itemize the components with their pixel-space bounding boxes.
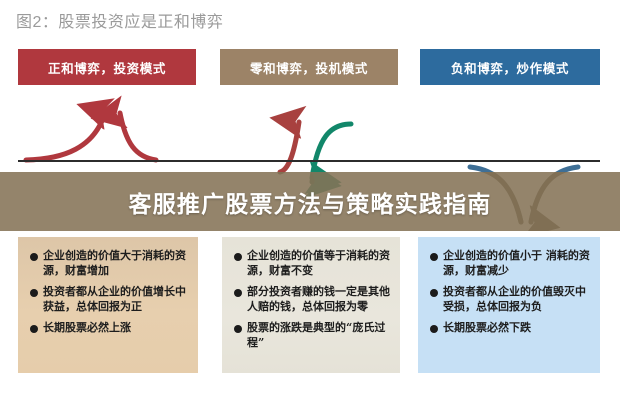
list-item: 企业创造的价值小于 消耗的资源，财富减少 <box>430 249 590 278</box>
middle-arrow-down <box>312 124 351 178</box>
arrow-group-left <box>26 113 156 160</box>
panel-negative-sum: 企业创造的价值小于 消耗的资源，财富减少 投资者都从企业的价值毁灭中受损，总体回… <box>418 237 600 373</box>
overlay-banner: 客服推广股票方法与策略实践指南 <box>0 172 620 231</box>
mode-box-label: 正和博弈，投资模式 <box>48 58 166 77</box>
mode-box-positive-sum: 正和博弈，投资模式 <box>18 49 196 85</box>
bullet-dot-icon <box>30 325 38 333</box>
list-item: 投资者都从企业的价值增长中获益，总体回报为正 <box>30 285 188 314</box>
bullet-text: 企业创造的价值等于消耗的资源，财富不变 <box>247 249 390 278</box>
bullet-text: 长期股票必然下跌 <box>443 321 531 336</box>
list-item: 投资者都从企业的价值毁灭中受损，总体回报为负 <box>430 285 590 314</box>
baseline-rule <box>18 160 600 162</box>
bullet-dot-icon <box>430 289 438 297</box>
list-item: 长期股票必然下跌 <box>430 321 590 336</box>
bullet-dot-icon <box>234 325 242 333</box>
left-arrow-up-outer <box>26 113 105 160</box>
list-item: 部分投资者赚的钱一定是其他人赔的钱，总体回报为零 <box>234 285 390 314</box>
panel-positive-sum: 企业创造的价值大于消耗的资源，财富增加 投资者都从企业的价值增长中获益，总体回报… <box>18 237 198 373</box>
bullet-dot-icon <box>30 289 38 297</box>
mode-box-label: 零和博弈，投机模式 <box>250 58 368 77</box>
bullet-dot-icon <box>30 253 38 261</box>
middle-arrow-up-over <box>280 122 299 172</box>
list-item: 长期股票必然上涨 <box>30 321 188 336</box>
bullet-dot-icon <box>430 253 438 261</box>
bullet-dot-icon <box>234 289 242 297</box>
bullet-text: 投资者都从企业的价值增长中获益，总体回报为正 <box>43 285 188 314</box>
bullet-text: 部分投资者赚的钱一定是其他人赔的钱，总体回报为零 <box>247 285 390 314</box>
left-arrow-up-inner <box>120 113 156 160</box>
panel-zero-sum: 企业创造的价值等于消耗的资源，财富不变 部分投资者赚的钱一定是其他人赔的钱，总体… <box>222 237 400 373</box>
list-item: 企业创造的价值等于消耗的资源，财富不变 <box>234 249 390 278</box>
bullet-dot-icon <box>430 325 438 333</box>
figure-root: 图2：股票投资应是正和博弈 正和博弈，投资模式 零和博弈，投机模式 负和博弈，炒… <box>0 0 620 400</box>
mode-box-zero-sum: 零和博弈，投机模式 <box>220 49 398 85</box>
list-item: 企业创造的价值大于消耗的资源，财富增加 <box>30 249 188 278</box>
bullet-text: 企业创造的价值大于消耗的资源，财富增加 <box>43 249 188 278</box>
bullet-text: 企业创造的价值小于 消耗的资源，财富减少 <box>443 249 590 278</box>
overlay-title: 客服推广股票方法与策略实践指南 <box>129 185 492 219</box>
bullet-text: 投资者都从企业的价值毁灭中受损，总体回报为负 <box>443 285 590 314</box>
bullet-text: 股票的涨跌是典型的“庞氏过程” <box>247 321 390 350</box>
middle-arrow-up <box>280 122 299 172</box>
arrow-group-middle <box>280 122 351 178</box>
mode-box-negative-sum: 负和博弈，炒作模式 <box>420 49 600 85</box>
mode-box-label: 负和博弈，炒作模式 <box>451 58 569 77</box>
figure-caption: 图2：股票投资应是正和博弈 <box>16 12 223 34</box>
bullet-dot-icon <box>234 253 242 261</box>
bullet-text: 长期股票必然上涨 <box>43 321 131 336</box>
list-item: 股票的涨跌是典型的“庞氏过程” <box>234 321 390 350</box>
